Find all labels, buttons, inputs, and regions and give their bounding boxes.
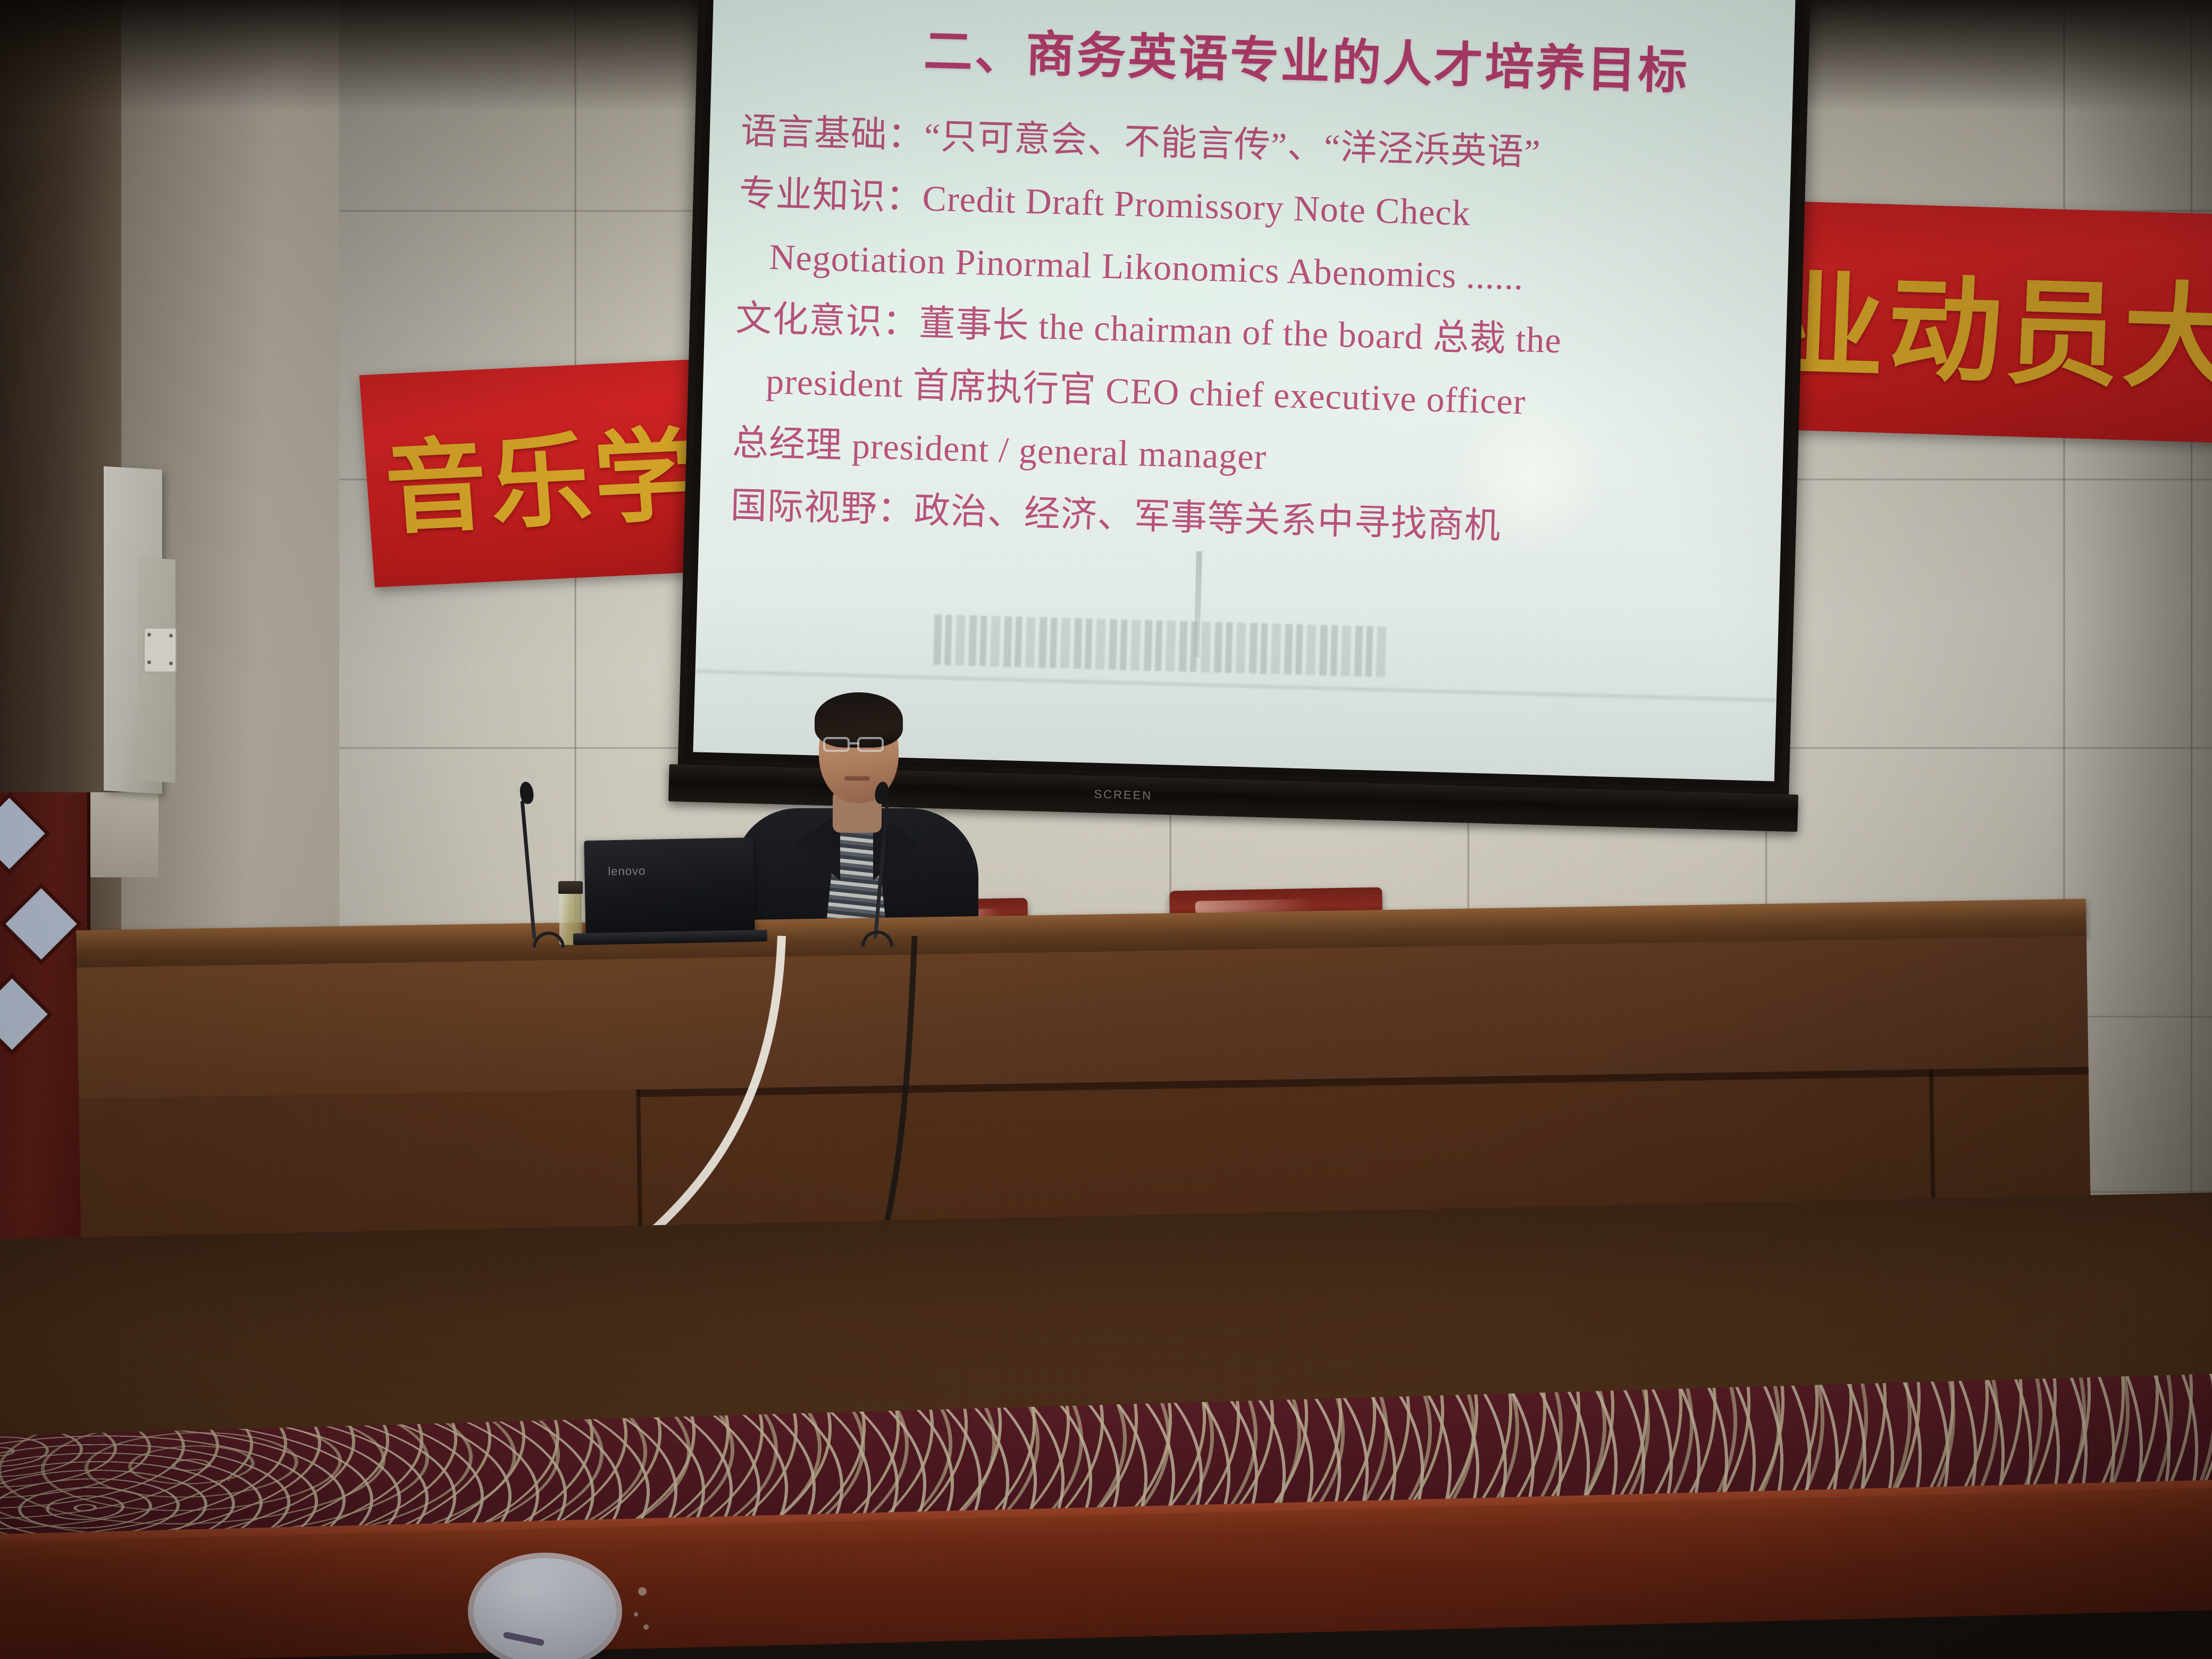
eyeglasses-icon [823, 737, 850, 752]
eyeglasses-icon [857, 737, 884, 752]
stage-front-disc [473, 1558, 617, 1659]
projected-slide: 二、商务英语专业的人才培养目标 语言基础：“只可意会、不能言传”、“洋泾浜英语”… [693, 0, 1795, 781]
stage-scuff-mark [638, 1587, 647, 1596]
slide-content: 二、商务英语专业的人才培养目标 语言基础：“只可意会、不能言传”、“洋泾浜英语”… [693, 0, 1795, 781]
slide-title: 二、商务英语专业的人才培养目标 [923, 12, 1764, 105]
tea-bottle-cap [558, 881, 583, 894]
screen-brand-label: SCREEN [1094, 787, 1152, 803]
door-glass-pane [0, 798, 45, 869]
stage-scuff-mark [634, 1612, 638, 1616]
laptop-brand-logo: lenovo [608, 864, 646, 878]
banner-right: 业动员大会 [1761, 200, 2212, 442]
screen-casing: 二、商务英语专业的人才培养目标 语言基础：“只可意会、不能言传”、“洋泾浜英语”… [678, 0, 1811, 797]
banner-right-text: 业动员大会 [1762, 232, 2212, 415]
banner-left-text: 音乐学院2 [362, 385, 715, 554]
stage-scuff-mark [643, 1624, 649, 1630]
lecture-hall-scene: 音乐学院2 业动员大会 二、商务英语专业的人才培养目标 语言基础：“只可意会、不… [0, 0, 2212, 1659]
eyeglasses-bridge [850, 742, 859, 744]
wall-speaker-bracket-icon [144, 627, 177, 673]
banner-left: 音乐学院2 [359, 359, 715, 587]
stage-disc-slot [503, 1631, 545, 1646]
presenter-mouth [844, 776, 870, 781]
door-frame [89, 792, 158, 877]
projection-screen: 二、商务英语专业的人才培养目标 语言基础：“只可意会、不能言传”、“洋泾浜英语”… [678, 0, 1811, 797]
